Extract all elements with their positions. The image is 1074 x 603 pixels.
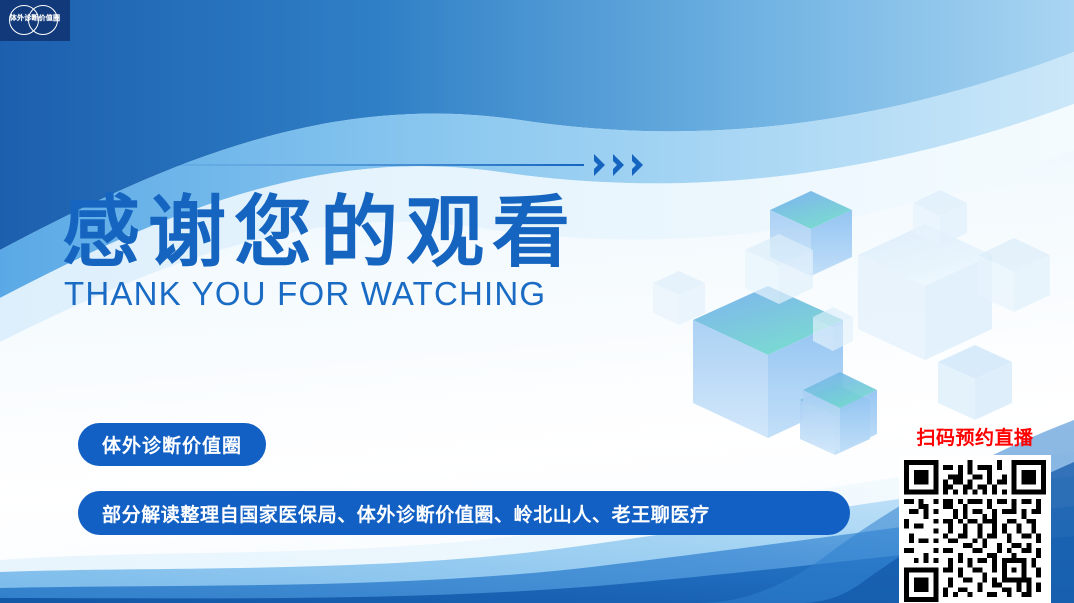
- credit-button[interactable]: 部分解读整理自国家医保局、体外诊断价值圈、岭北山人、老王聊医疗: [78, 491, 850, 535]
- triple-chevron-right-icon: [592, 152, 647, 178]
- qr-caption: 扫码预约直播: [899, 423, 1051, 450]
- headline-block: 感谢您的观看 THANK YOU FOR WATCHING: [62, 150, 702, 313]
- brand-logo-text: 体外诊断价值圈: [0, 13, 70, 23]
- qr-code-icon: [904, 460, 1046, 602]
- thank-you-slide: 体外诊断价值圈 感谢您的观看 THANK YOU FOR WATCHING 体外…: [0, 0, 1074, 603]
- divider-line: [62, 164, 584, 166]
- qr-code-image[interactable]: [899, 455, 1051, 603]
- qr-block: 扫码预约直播: [899, 423, 1051, 603]
- divider-row: [62, 150, 640, 180]
- page-subtitle: THANK YOU FOR WATCHING: [64, 276, 702, 312]
- page-title: 感谢您的观看: [62, 192, 702, 272]
- brand-logo[interactable]: 体外诊断价值圈: [0, 0, 70, 41]
- tag-button[interactable]: 体外诊断价值圈: [78, 423, 266, 466]
